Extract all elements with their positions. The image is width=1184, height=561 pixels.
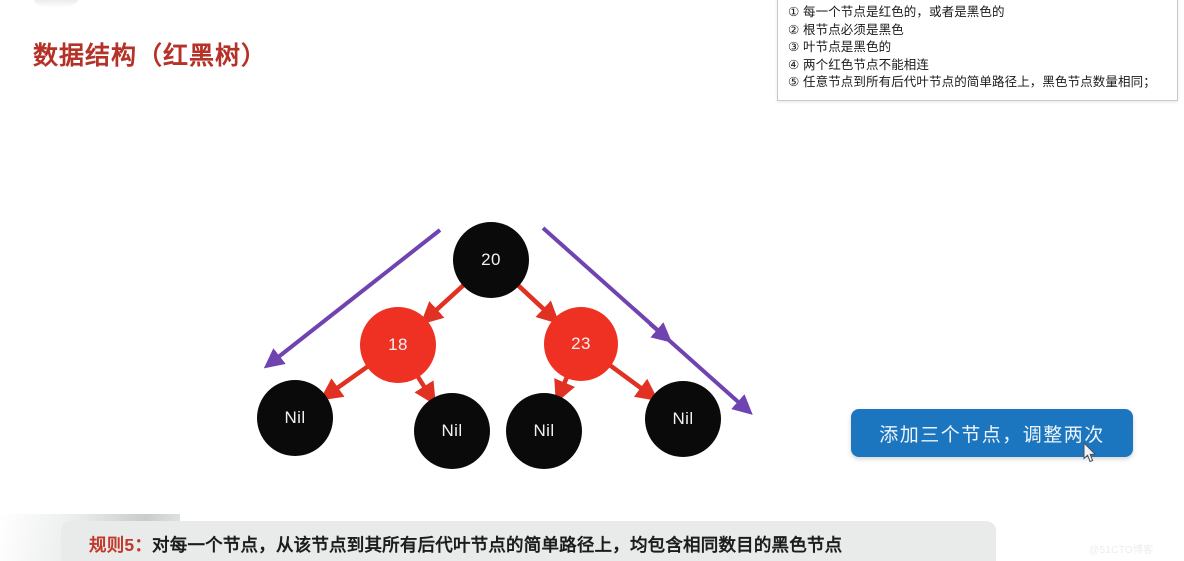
rule-text-4: 两个红色节点不能相连 [803,58,929,72]
rule-marker-1: ① [788,4,803,22]
red-black-tree-diagram: 201823NilNilNilNil [250,205,770,495]
tree-node-label: Nil [533,421,554,441]
tree-node-label: 20 [481,250,501,270]
caption-rule-body: 对每一个节点，从该节点到其所有后代叶节点的简单路径上，均包含相同数目的黑色节点 [152,535,842,555]
tree-edge-left-to-lr [417,375,430,396]
watermark: @51CTO博客 [1089,541,1154,556]
rule-item-2: ②根节点必须是黑色 [788,22,1171,40]
mouse-cursor-icon [1083,443,1097,463]
tree-edge-root-to-left [428,284,464,317]
rule-item-4: ④两个红色节点不能相连 [788,57,1171,75]
add-three-nodes-button-label: 添加三个节点，调整两次 [879,420,1105,447]
caption-text: 规则5：对每一个节点，从该节点到其所有后代叶节点的简单路径上，均包含相同数目的黑… [89,532,842,557]
rule-text-5: 任意节点到所有后代叶节点的简单路径上，黑色节点数量相同； [803,75,1156,89]
tree-node-label: Nil [441,421,462,441]
rule-marker-4: ④ [788,57,803,75]
page-title: 数据结构（红黑树） [33,36,267,72]
tree-edge-root-to-right [517,285,551,317]
tree-node-label: 23 [571,334,591,354]
caption-rule-label: 规则5： [89,535,152,555]
tree-node-nil-rr: Nil [645,381,721,457]
rule-item-5: ⑤任意节点到所有后代叶节点的简单路径上，黑色节点数量相同； [788,74,1171,92]
tree-node-18-left: 18 [360,307,436,383]
rule-text-3: 叶节点是黑色的 [803,40,891,54]
corner-artifact [34,0,78,8]
red-black-tree-rules-panel: ①每一个节点是红色的，或者是黑色的 ②根节点必须是黑色 ③叶节点是黑色的 ④两个… [777,0,1178,101]
tree-edge-right-to-rr [609,365,650,395]
right-path-arrow-mid-head [650,324,664,336]
rule-marker-3: ③ [788,39,803,57]
slide-canvas: 数据结构（红黑树） ①每一个节点是红色的，或者是黑色的 ②根节点必须是黑色 ③叶… [0,0,1184,561]
tree-node-nil-rl: Nil [506,393,582,469]
tree-node-label: 18 [388,335,408,355]
tree-edge-right-to-rl [560,376,567,393]
tree-node-nil-lr: Nil [414,393,490,469]
tree-node-20-root: 20 [453,222,529,298]
rule-marker-2: ② [788,22,803,40]
rule-text-1: 每一个节点是红色的，或者是黑色的 [803,5,1005,19]
rule-item-3: ③叶节点是黑色的 [788,39,1171,57]
tree-node-nil-ll: Nil [257,380,333,456]
rule-marker-5: ⑤ [788,74,803,92]
tree-edge-left-to-ll [328,366,368,394]
tree-node-label: Nil [284,408,305,428]
tree-node-label: Nil [672,409,693,429]
rule-item-1: ①每一个节点是红色的，或者是黑色的 [788,4,1171,22]
rule-text-2: 根节点必须是黑色 [803,23,904,37]
tree-node-23-right: 23 [544,307,618,381]
